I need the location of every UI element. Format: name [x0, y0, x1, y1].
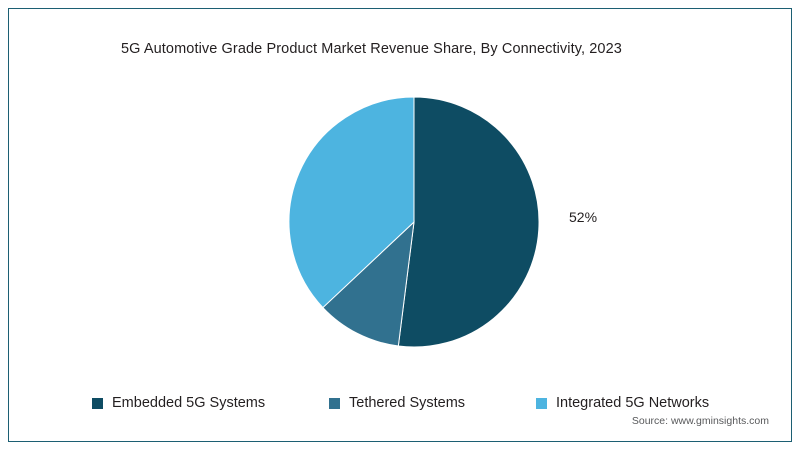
pie-chart	[289, 97, 539, 347]
pie-svg	[289, 97, 539, 347]
legend-item-tethered-systems[interactable]: Tethered Systems	[329, 395, 465, 411]
slice-value-label-embedded: 52%	[569, 209, 597, 225]
legend-label: Embedded 5G Systems	[112, 395, 265, 411]
legend-swatch-icon	[329, 398, 340, 409]
chart-legend: Embedded 5G Systems Tethered Systems Int…	[79, 395, 759, 417]
legend-item-integrated-5g-networks[interactable]: Integrated 5G Networks	[536, 395, 709, 411]
source-note: Source: www.gminsights.com	[632, 415, 769, 427]
pie-slice[interactable]	[398, 97, 539, 347]
legend-swatch-icon	[536, 398, 547, 409]
legend-item-embedded-5g-systems[interactable]: Embedded 5G Systems	[92, 395, 265, 411]
page-title: 5G Automotive Grade Product Market Reven…	[121, 41, 622, 57]
chart-card: 5G Automotive Grade Product Market Reven…	[8, 8, 792, 442]
legend-swatch-icon	[92, 398, 103, 409]
pie-slices	[289, 97, 539, 347]
legend-label: Integrated 5G Networks	[556, 395, 709, 411]
legend-label: Tethered Systems	[349, 395, 465, 411]
